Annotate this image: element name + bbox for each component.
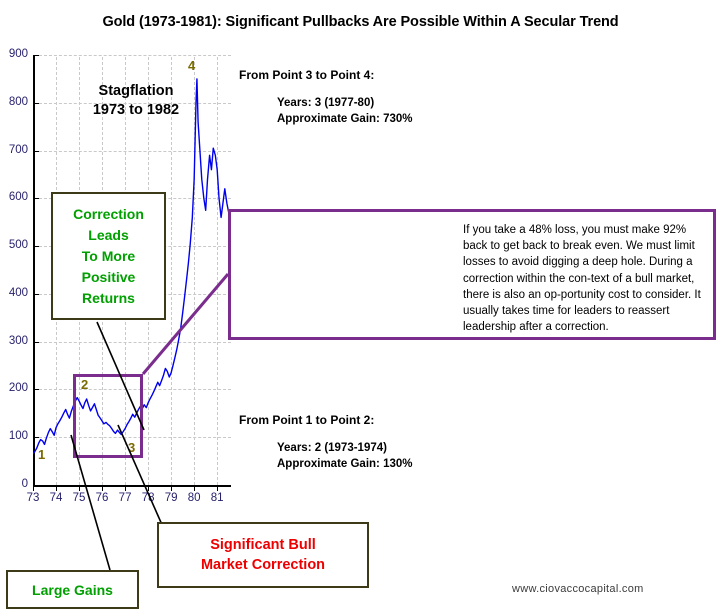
- bull-correction-line-1: Significant Bull: [210, 535, 316, 555]
- stats-point3-to-point4: From Point 3 to Point 4: Years: 3 (1977-…: [239, 68, 412, 127]
- large-gains-label: Large Gains: [32, 582, 113, 598]
- stats-point1-to-point2: From Point 1 to Point 2: Years: 2 (1973-…: [239, 413, 412, 472]
- watermark: www.ciovaccocapital.com: [512, 583, 644, 595]
- bull-correction-line-2: Market Correction: [201, 555, 325, 575]
- purple-callout-text: If you take a 48% loss, you must make 92…: [463, 222, 703, 335]
- bull-market-correction-callout: Significant Bull Market Correction: [157, 522, 369, 588]
- stat-years: Years: 3 (1977-80): [277, 95, 412, 111]
- stat-years: Years: 2 (1973-1974): [277, 440, 412, 456]
- stat-heading: From Point 3 to Point 4:: [239, 68, 412, 82]
- stat-result: Approximate Gain: 730%: [277, 111, 412, 127]
- stat-result: Approximate Gain: 130%: [277, 456, 412, 472]
- stat-heading: From Point 1 to Point 2:: [239, 413, 412, 427]
- large-gains-callout: Large Gains: [6, 570, 139, 609]
